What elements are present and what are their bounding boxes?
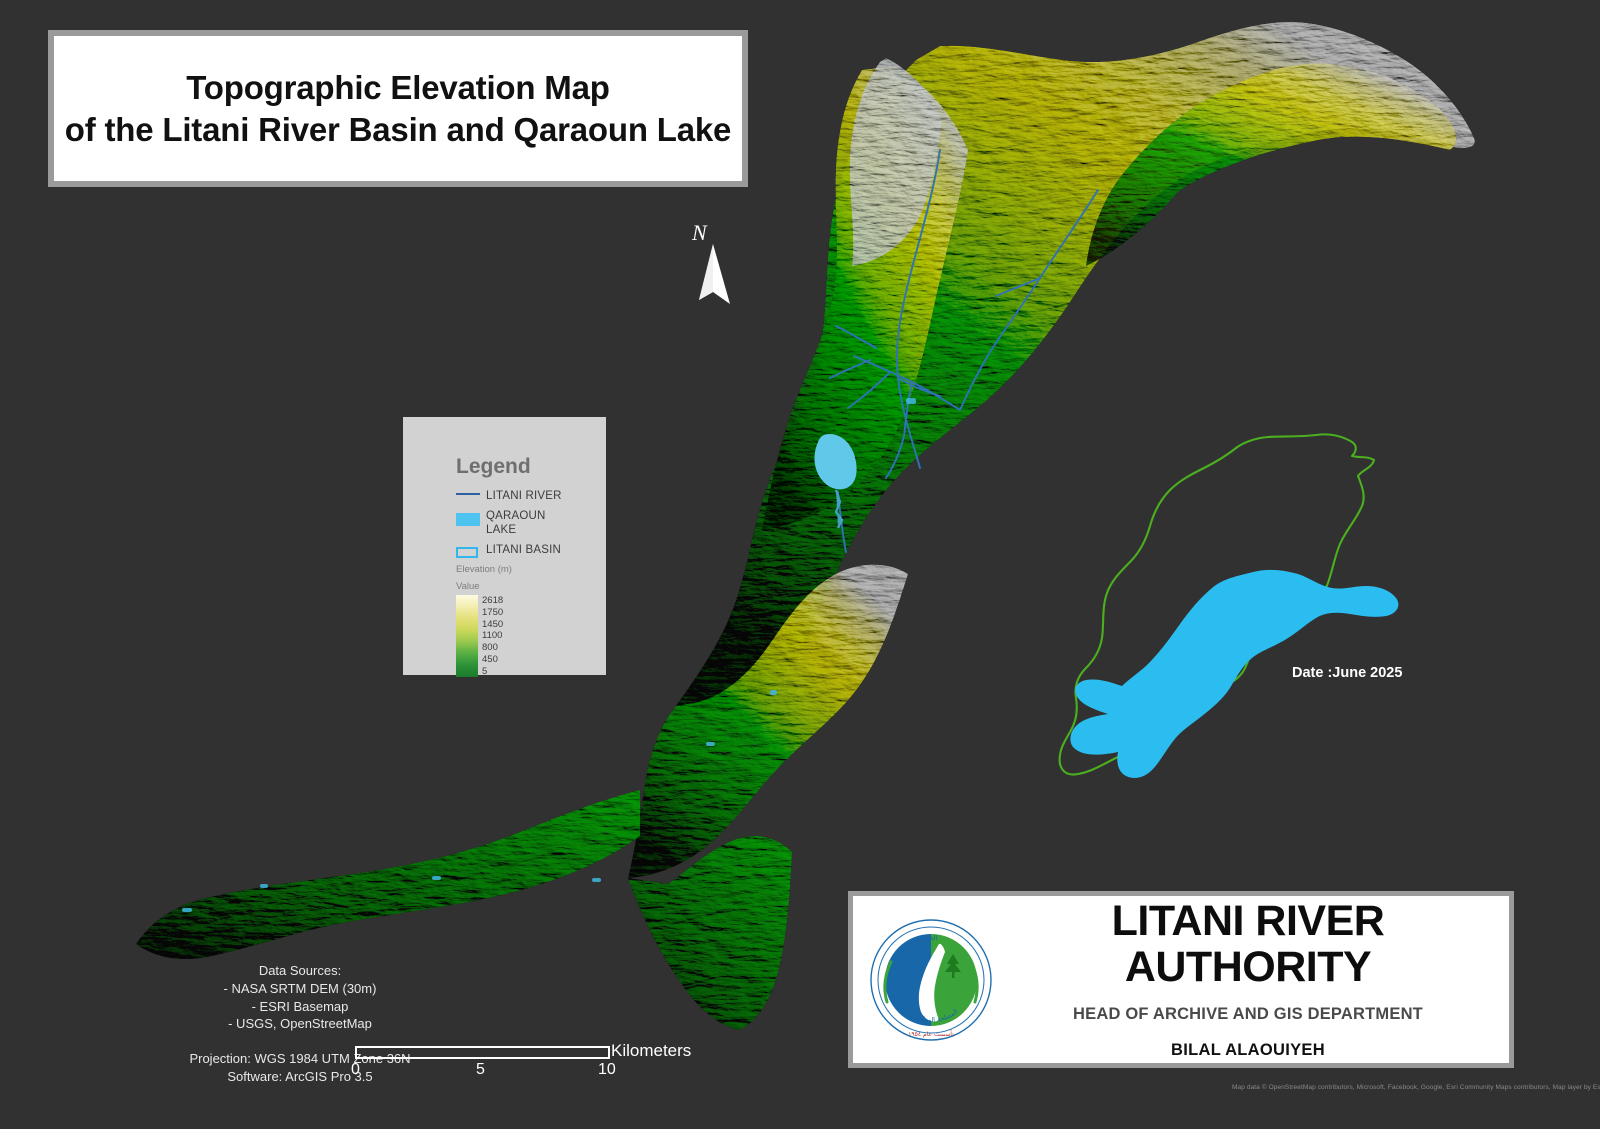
authority-department: HEAD OF ARCHIVE AND GIS DEPARTMENT [997,1005,1499,1024]
legend-label-litani-river: LITANI RIVER [486,489,562,504]
data-source-2: - ESRI Basemap [120,998,480,1016]
ramp-value-4: 800 [482,642,503,654]
svg-text:تأسست عام ١٩٥٤: تأسست عام ١٩٥٤ [908,1029,954,1038]
basemap-attribution: Map data © OpenStreetMap contributors, M… [1232,1084,1592,1091]
elevation-ramp-bar [456,595,478,677]
qaraoun-lake-swatch [456,509,486,526]
legend-panel: Legend LITANI RIVER QARAOUN LAKE LITANI … [403,417,606,675]
legend-item-litani-river: LITANI RIVER [456,489,606,504]
authority-text-block: LITANI RIVER AUTHORITY HEAD OF ARCHIVE A… [997,899,1509,1059]
ramp-value-6: 5 [482,666,503,678]
ramp-value-5: 450 [482,654,503,666]
legend-raster-title: Elevation (m) [456,564,606,575]
scale-tick-0: 0 [351,1061,360,1079]
data-source-1: - NASA SRTM DEM (30m) [120,980,480,998]
north-arrow: N [686,220,742,315]
ramp-value-3: 1100 [482,630,503,642]
legend-label-qaraoun-lake: QARAOUN LAKE [486,509,576,538]
data-sources-heading: Data Sources: [120,962,480,980]
outline-symbol-icon [456,547,478,558]
legend-label-litani-basin: LITANI BASIN [486,543,561,558]
fill-symbol-icon [456,513,480,526]
authority-person-name: BILAL ALAOUIYEH [997,1041,1499,1060]
ramp-value-2: 1450 [482,619,503,631]
litani-river-authority-logo-icon: الجمهورية اللبنانية المصلحة الوطنية لنهر… [869,918,993,1042]
ramp-value-0: 2618 [482,595,503,607]
scale-tick-5: 5 [476,1061,485,1079]
elevation-ramp: 2618 1750 1450 1100 800 450 5 [456,595,606,677]
data-source-3: - USGS, OpenStreetMap [120,1015,480,1033]
ramp-value-1: 1750 [482,607,503,619]
map-page: Topographic Elevation Map of the Litani … [0,0,1600,1129]
north-arrow-label: N [692,220,707,246]
scale-bar-units: Kilometers [611,1041,691,1061]
authority-credit-box: الجمهورية اللبنانية المصلحة الوطنية لنهر… [848,891,1514,1068]
page-title-line-2: of the Litani River Basin and Qaraoun La… [65,109,731,150]
authority-organization-name: LITANI RIVER AUTHORITY [997,899,1499,989]
scale-bar: Kilometers 0 5 10 [355,1046,695,1088]
scale-bar-track [355,1046,610,1059]
legend-heading: Legend [456,455,606,479]
date-label: Date :June 2025 [1292,665,1402,681]
map-title-box: Topographic Elevation Map of the Litani … [48,30,748,187]
elevation-ramp-labels: 2618 1750 1450 1100 800 450 5 [482,595,503,677]
line-symbol-icon [456,493,480,495]
page-title-line-1: Topographic Elevation Map [186,67,609,108]
legend-raster-subtitle: Value [456,581,606,592]
scale-tick-10: 10 [598,1061,616,1079]
litani-basin-swatch [456,543,486,558]
legend-item-litani-basin: LITANI BASIN [456,543,606,558]
legend-item-qaraoun-lake: QARAOUN LAKE [456,509,606,538]
litani-river-swatch [456,489,486,495]
